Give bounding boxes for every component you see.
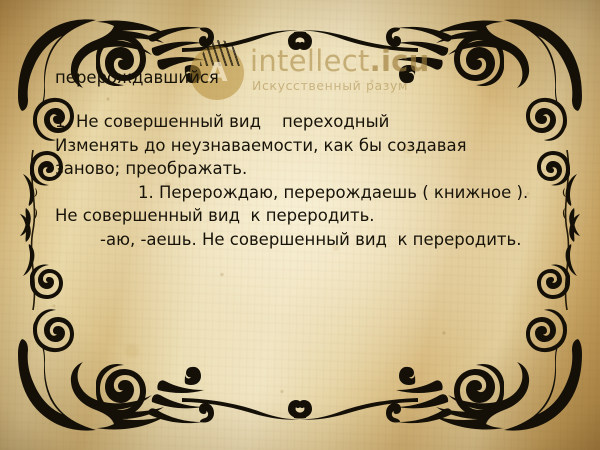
parchment-page: A intellect.icu Искусственный разум пере… [0,0,600,450]
definition-line: 1. Не совершенный вид переходный [55,110,585,134]
definition-line: Не совершенный вид к переродить. [55,204,585,228]
definition-line: 1. Перерождаю, перерождаешь ( книжное ). [55,181,585,205]
definition-block: 1. Не совершенный вид переходный Изменят… [55,110,585,251]
headword: перерождавшийся [55,68,219,88]
definition-line: -аю, -аешь. Не совершенный вид к перерод… [55,228,585,252]
definition-line: заново; преображать. [55,157,585,181]
definition-line: Изменять до неузнаваемости, как бы созда… [55,134,585,158]
